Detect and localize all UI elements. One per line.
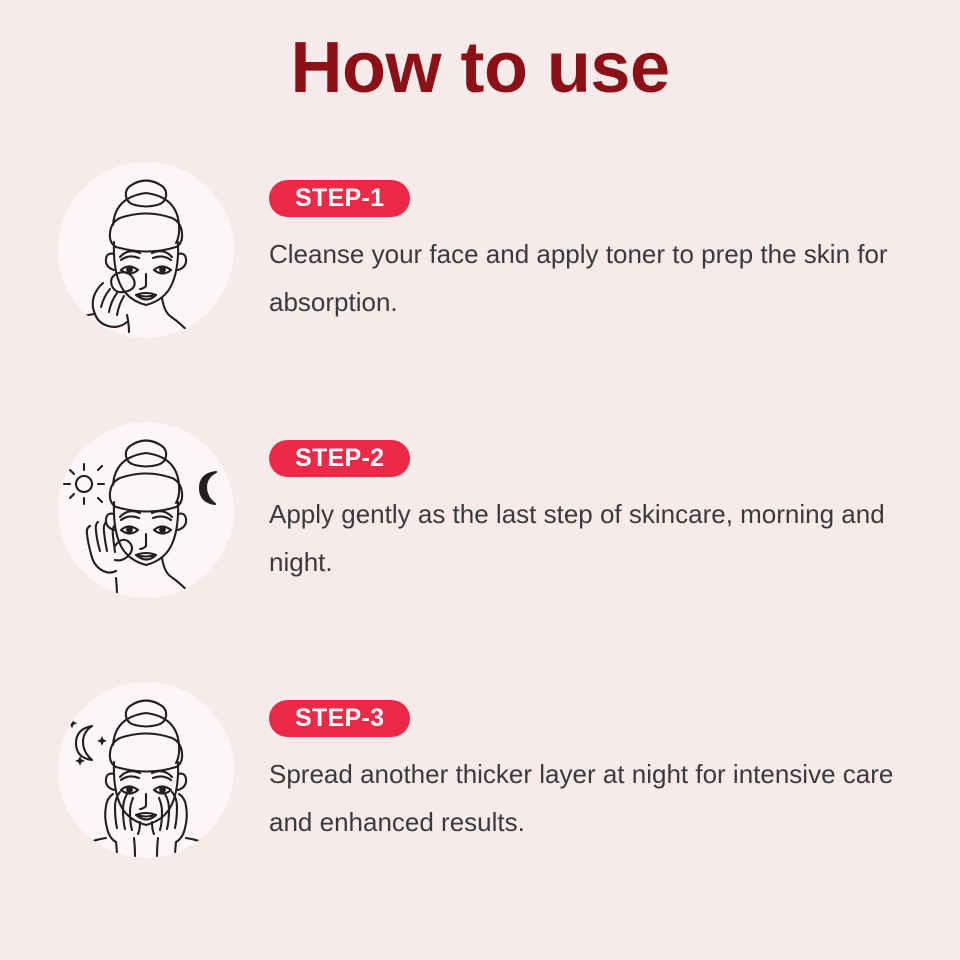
step-1-badge: STEP-1 bbox=[269, 180, 410, 217]
steps-list: STEP-1 Cleanse your face and apply toner… bbox=[0, 152, 960, 932]
step-2-text: Apply gently as the last step of skincar… bbox=[269, 490, 909, 586]
woman-night-moon-stars-both-hands-icon bbox=[58, 682, 234, 858]
step-2-body: STEP-2 Apply gently as the last step of … bbox=[269, 440, 919, 586]
step-2-icon-circle bbox=[58, 422, 234, 598]
step-3-body: STEP-3 Spread another thicker layer at n… bbox=[269, 700, 919, 846]
woman-applying-toner-with-cotton-pad-icon bbox=[58, 162, 234, 338]
step-row: STEP-2 Apply gently as the last step of … bbox=[0, 412, 960, 672]
crescent-moon-stars-icon bbox=[67, 718, 107, 766]
step-3-badge: STEP-3 bbox=[269, 700, 410, 737]
page-title: How to use bbox=[0, 22, 960, 114]
woman-day-and-night-sun-moon-icon bbox=[58, 422, 234, 598]
how-to-use-infographic: How to use bbox=[0, 0, 960, 960]
step-1-icon-circle bbox=[58, 162, 234, 338]
step-1-text: Cleanse your face and apply toner to pre… bbox=[269, 230, 909, 326]
step-row: STEP-3 Spread another thicker layer at n… bbox=[0, 672, 960, 932]
step-3-text: Spread another thicker layer at night fo… bbox=[269, 750, 909, 846]
sun-icon bbox=[64, 464, 104, 504]
step-row: STEP-1 Cleanse your face and apply toner… bbox=[0, 152, 960, 412]
step-3-icon-circle bbox=[58, 682, 234, 858]
crescent-moon-icon bbox=[200, 472, 216, 504]
step-2-badge: STEP-2 bbox=[269, 440, 410, 477]
step-1-body: STEP-1 Cleanse your face and apply toner… bbox=[269, 180, 919, 326]
